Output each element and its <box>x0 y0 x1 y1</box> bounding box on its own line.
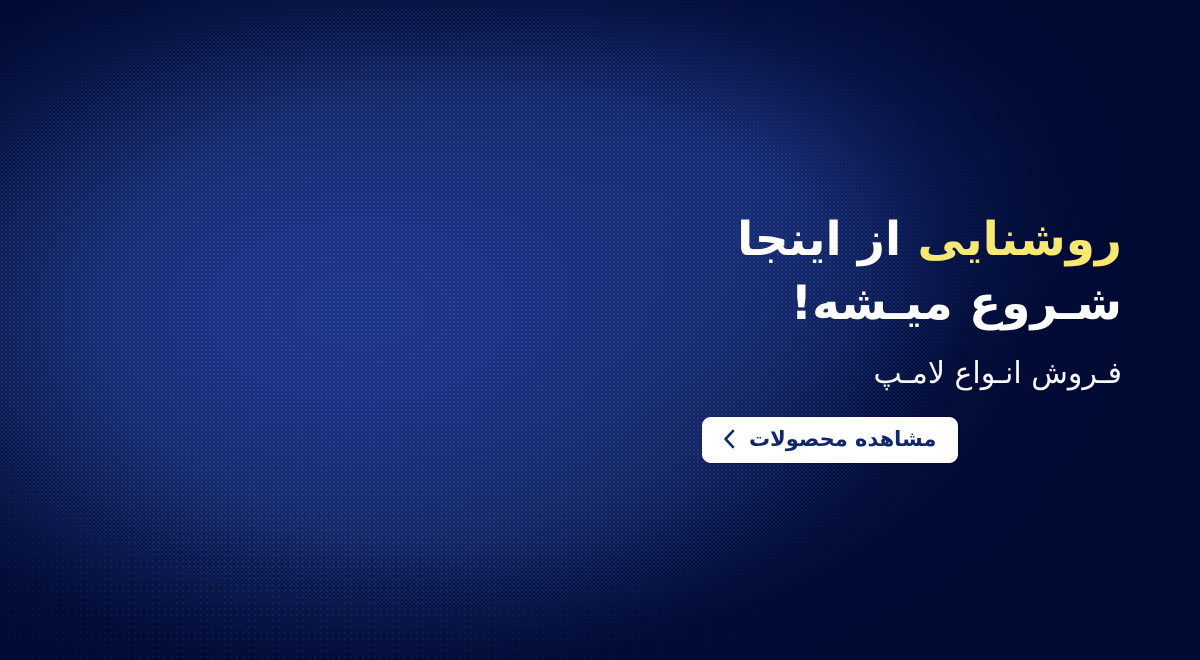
view-products-button[interactable]: مشاهده محصولات <box>702 417 958 463</box>
hero-headline: روشنایی از اینجا شـروع میـشه! <box>702 208 1122 336</box>
hero-subtitle: فـروش انـواع لامـپ <box>702 354 1122 393</box>
hero-cta-row: مشاهده محصولات <box>702 417 1122 463</box>
chevron-left-icon <box>722 428 737 450</box>
headline-accent-word: روشنایی <box>917 212 1122 267</box>
hero-banner: روشنایی از اینجا شـروع میـشه! فـروش انـو… <box>0 0 1200 660</box>
headline-line-2: شـروع میـشه! <box>702 272 1122 336</box>
headline-line-1-rest: از اینجا <box>737 212 917 267</box>
hero-content: روشنایی از اینجا شـروع میـشه! فـروش انـو… <box>702 208 1122 463</box>
view-products-button-label: مشاهده محصولات <box>749 426 936 452</box>
